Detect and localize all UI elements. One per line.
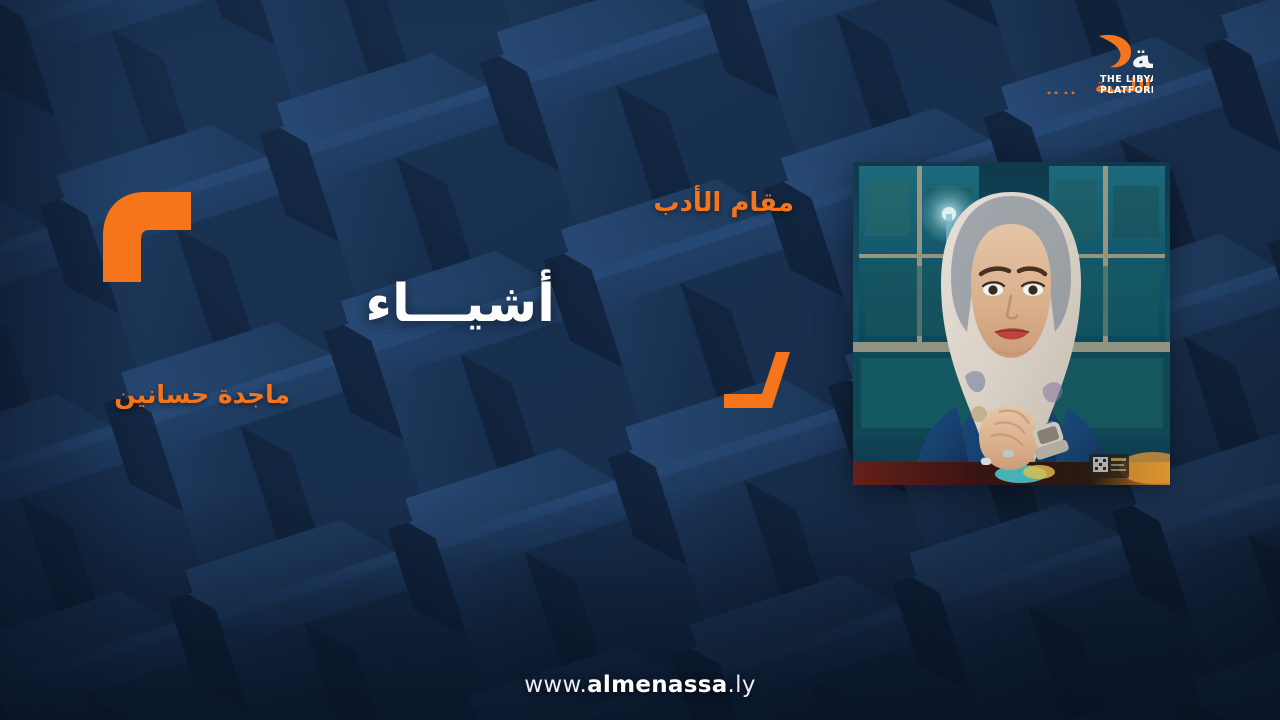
orange-hook-bracket-icon xyxy=(95,190,195,282)
website-suffix: .ly xyxy=(728,672,756,698)
website-url[interactable]: www.almenassa.ly xyxy=(0,672,1280,698)
svg-text:PLATFORM: PLATFORM xyxy=(1100,85,1153,94)
host-portrait-photo xyxy=(853,162,1170,485)
broadcast-title-card: المنصة الليبية THE LIBYAN PLATFORM المنص… xyxy=(0,0,1280,720)
orange-lam-letter-icon xyxy=(724,352,794,408)
website-prefix: www. xyxy=(524,672,587,698)
svg-text:المنصة: المنصة xyxy=(1131,37,1153,77)
program-label: مقام الأدب xyxy=(653,188,794,218)
almenassa-logo[interactable]: المنصة الليبية THE LIBYAN PLATFORM xyxy=(1003,22,1153,94)
svg-text:THE LIBYAN: THE LIBYAN xyxy=(1100,74,1153,85)
host-name: ماجدة حسانين xyxy=(114,380,290,409)
website-name: almenassa xyxy=(587,672,727,698)
show-title: أشيـــاء xyxy=(365,274,555,334)
